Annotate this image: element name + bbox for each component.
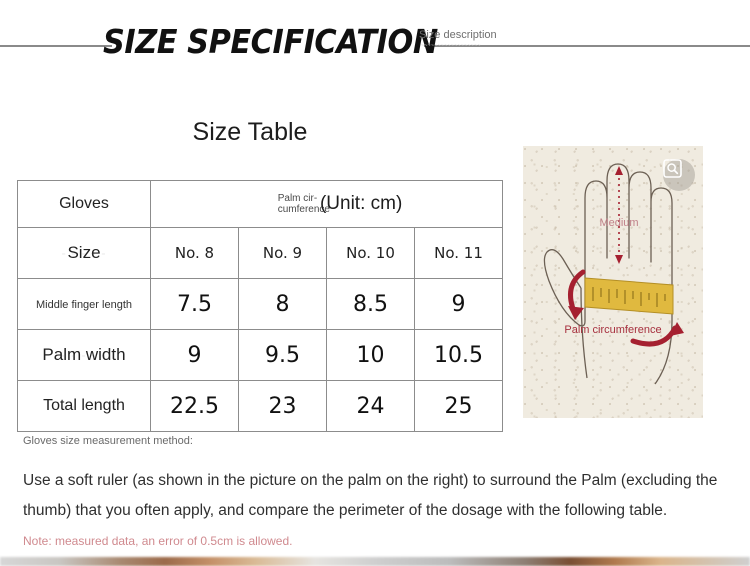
table-cell-value: 7.5: [151, 279, 239, 330]
table-row-header: Gloves Palm cir- cumference(Unit: cm): [18, 181, 503, 228]
cell-value: 9: [452, 292, 466, 317]
ruler: [585, 278, 673, 314]
table-cell-unit: Palm cir- cumference(Unit: cm): [151, 181, 503, 228]
table-cell-row-label: - - - - - Middle finger length: [18, 279, 151, 330]
row-label-size: Size: [67, 243, 100, 262]
table-cell-value: 25: [415, 381, 503, 432]
magnifier-glyph: [663, 159, 682, 178]
medium-measure-arrow: [615, 166, 623, 264]
header-subtitle-ghost: ~~~~~~~~~~~~~~~~~~: [421, 43, 481, 49]
table-row: - - - - - Middle finger length 7.5 8 8.5…: [18, 279, 503, 330]
cell-value: No. 10: [346, 244, 395, 262]
cell-value: 22.5: [170, 394, 219, 419]
table-cell-value: 9: [151, 330, 239, 381]
palm-circumference-figure-label: Palm circumference: [564, 324, 661, 336]
measurement-note: Note: measured data, an error of 0.5cm i…: [23, 534, 292, 548]
gloves-label: Gloves: [59, 195, 109, 212]
cell-value: 10.5: [434, 343, 483, 368]
row-label-total-length: Total length: [43, 397, 125, 414]
header-rule-left: [0, 45, 112, 47]
table-cell-value: No. 9: [239, 228, 327, 279]
section-heading: Size Table: [0, 118, 500, 147]
cell-value: No. 9: [263, 244, 302, 262]
cell-value: 8: [276, 292, 290, 317]
magnifier-icon[interactable]: [663, 159, 695, 191]
table-cell-value: 10.5: [415, 330, 503, 381]
page-header: SIZE SPECIFICATION Size description ~~~~…: [0, 22, 750, 68]
table-cell-row-label: - - - - - Size: [18, 228, 151, 279]
table-cell-value: 24: [327, 381, 415, 432]
table-row: - - - - - Palm width 9 9.5 10 10.5: [18, 330, 503, 381]
table-row: - - - - - Size No. 8 No. 9 No. 10 No. 11: [18, 228, 503, 279]
table-cell-value: 22.5: [151, 381, 239, 432]
table-cell-value: No. 11: [415, 228, 503, 279]
table-cell-row-label: - - - - - Total length: [18, 381, 151, 432]
table-cell-value: 8: [239, 279, 327, 330]
table-row: - - - - - Total length 22.5 23 24 25: [18, 381, 503, 432]
table-cell-value: 9.5: [239, 330, 327, 381]
table-cell-gloves: Gloves: [18, 181, 151, 228]
cell-value: 23: [269, 394, 297, 419]
method-body: Use a soft ruler (as shown in the pictur…: [23, 466, 729, 526]
bottom-image-strip: [0, 557, 750, 566]
header-subtitle: Size description: [419, 29, 497, 41]
page-title: SIZE SPECIFICATION: [103, 22, 438, 61]
cell-value: 9.5: [265, 343, 300, 368]
table-cell-value: 10: [327, 330, 415, 381]
table-cell-value: No. 10: [327, 228, 415, 279]
method-label: Gloves size measurement method:: [23, 435, 223, 448]
cell-value: 24: [357, 394, 385, 419]
cell-value: 8.5: [353, 292, 388, 317]
hand-measurement-figure: Medium Palm circumference: [523, 146, 703, 418]
cell-value: 9: [188, 343, 202, 368]
cell-value: No. 11: [434, 244, 483, 262]
size-table: Gloves Palm cir- cumference(Unit: cm) - …: [17, 180, 503, 432]
row-label-middle-finger-length: Middle finger length: [36, 299, 132, 311]
cell-value: 10: [357, 343, 385, 368]
cell-value: 7.5: [177, 292, 212, 317]
table-cell-value: No. 8: [151, 228, 239, 279]
medium-label: Medium: [599, 217, 638, 229]
cell-value: No. 8: [175, 244, 214, 262]
row-label-palm-width: Palm width: [42, 345, 125, 364]
table-cell-value: 23: [239, 381, 327, 432]
table-cell-value: 8.5: [327, 279, 415, 330]
table-cell-value: 9: [415, 279, 503, 330]
table-cell-row-label: - - - - - Palm width: [18, 330, 151, 381]
unit-label: (Unit: cm): [320, 193, 402, 215]
cell-value: 25: [445, 394, 473, 419]
